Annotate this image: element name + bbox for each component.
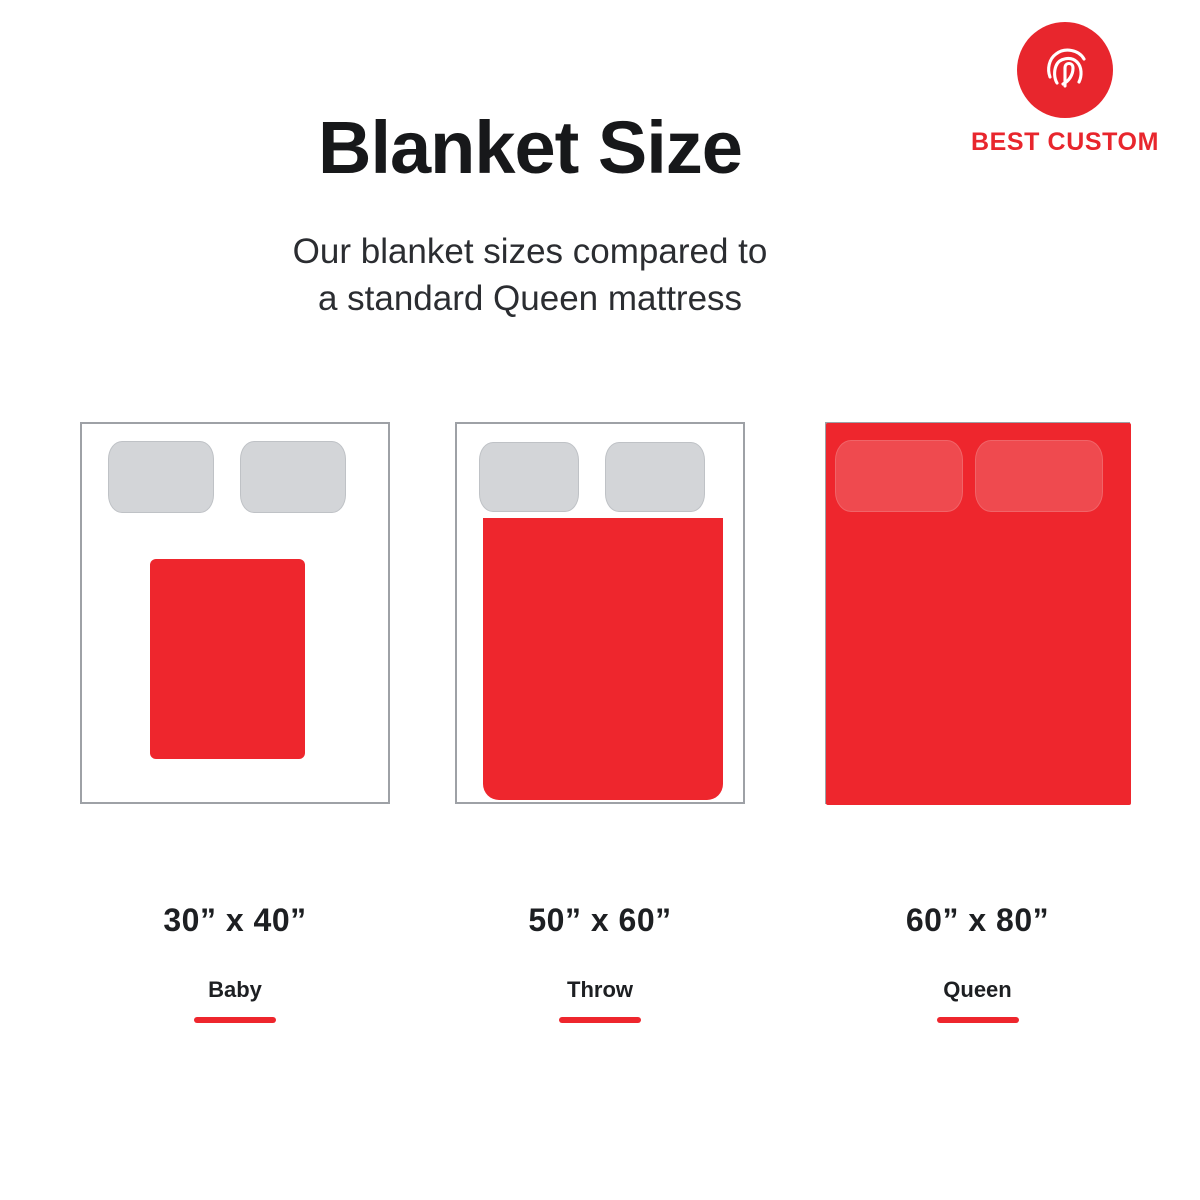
blanket-size-label: 60” x 80” [825, 902, 1130, 939]
pillow-icon [240, 441, 346, 513]
pillow-icon [108, 441, 214, 513]
page-title: Blanket Size [0, 105, 1060, 190]
blanket-overlay [150, 559, 305, 759]
blanket-size-label: 50” x 60” [455, 902, 745, 939]
pillow-icon [479, 442, 579, 512]
blanket-name-label: Throw [455, 977, 745, 1003]
page-subtitle: Our blanket sizes compared to a standard… [0, 228, 1060, 323]
pillow-icon [605, 442, 705, 512]
label-underline [194, 1017, 276, 1023]
mattress-outline [80, 422, 390, 804]
blanket-overlay [483, 518, 723, 800]
logo-badge [1017, 22, 1113, 118]
subtitle-line-2: a standard Queen mattress [0, 275, 1060, 322]
label-underline [937, 1017, 1019, 1023]
blanket-item-baby: 30” x 40” Baby [80, 422, 390, 804]
blanket-name-label: Queen [825, 977, 1130, 1003]
pillow-icon [975, 440, 1103, 512]
blanket-item-throw: 50” x 60” Throw [455, 422, 745, 804]
blanket-name-label: Baby [80, 977, 390, 1003]
blanket-size-label: 30” x 40” [80, 902, 390, 939]
mattress-outline [455, 422, 745, 804]
fingerprint-icon [1034, 37, 1096, 104]
blanket-size-comparison: 30” x 40” Baby 50” x 60” Throw 60” x 80”… [0, 422, 1200, 1042]
mattress-outline [825, 422, 1130, 804]
subtitle-line-1: Our blanket sizes compared to [293, 232, 768, 271]
blanket-item-queen: 60” x 80” Queen [825, 422, 1130, 804]
label-underline [559, 1017, 641, 1023]
pillow-icon [835, 440, 963, 512]
